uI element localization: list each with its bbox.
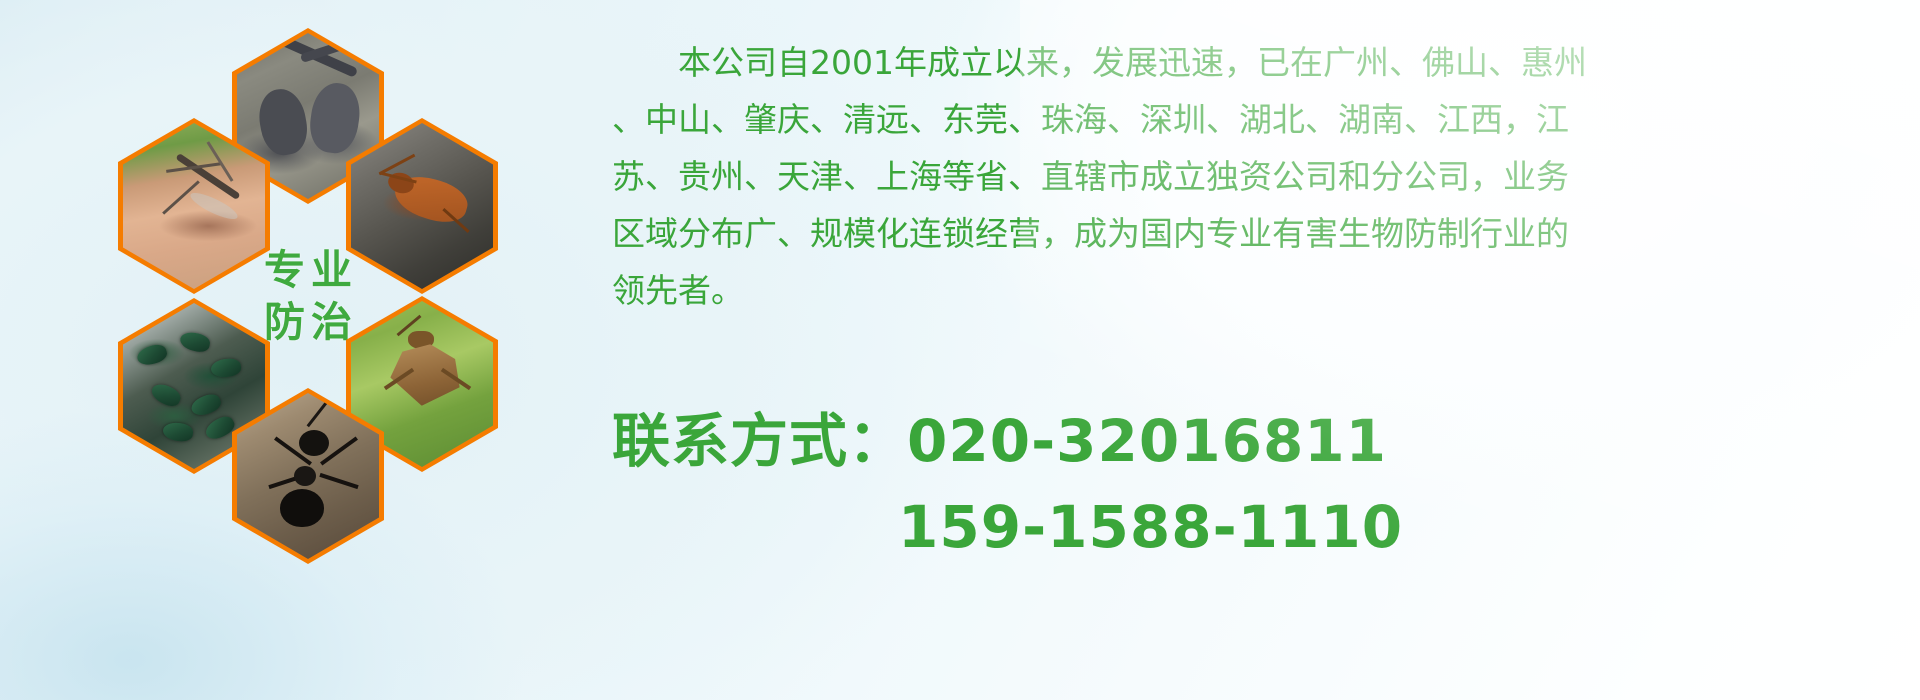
phone-mobile[interactable]: 159-1588-1110 xyxy=(898,493,1403,561)
contact-landline-row[interactable]: 联系方式：020-32016811 xyxy=(612,398,1912,484)
slogan-line-2: 防治 xyxy=(258,296,358,348)
promo-banner: 专业 防治 xyxy=(0,0,1920,700)
description-line-5: 领先者。 xyxy=(612,262,1912,319)
ant-photo xyxy=(237,393,379,559)
honeycomb-pest-gallery: 专业 防治 xyxy=(80,10,600,570)
phone-landline[interactable]: 020-32016811 xyxy=(907,407,1387,475)
phone-mobile-row[interactable]: 159-1588-1110 xyxy=(612,484,1912,570)
description-line-2: 、中山、肇庆、清远、东莞、珠海、深圳、湖北、湖南、江西，江 xyxy=(612,91,1912,148)
description-line-4: 区域分布广、规模化连锁经营，成为国内专业有害生物防制行业的 xyxy=(612,205,1912,262)
contact-label: 联系方式： xyxy=(612,407,907,475)
slogan-line-1: 专业 xyxy=(258,244,358,296)
description-line-3: 苏、贵州、天津、上海等省、直辖市成立独资公司和分公司，业务 xyxy=(612,148,1912,205)
description-line-1: 本公司自2001年成立以来，发展迅速，已在广州、佛山、惠州 xyxy=(612,34,1912,91)
company-description: 本公司自2001年成立以来，发展迅速，已在广州、佛山、惠州 、中山、肇庆、清远、… xyxy=(612,34,1912,319)
contact-block: 联系方式：020-32016811 159-1588-1110 xyxy=(612,398,1912,570)
